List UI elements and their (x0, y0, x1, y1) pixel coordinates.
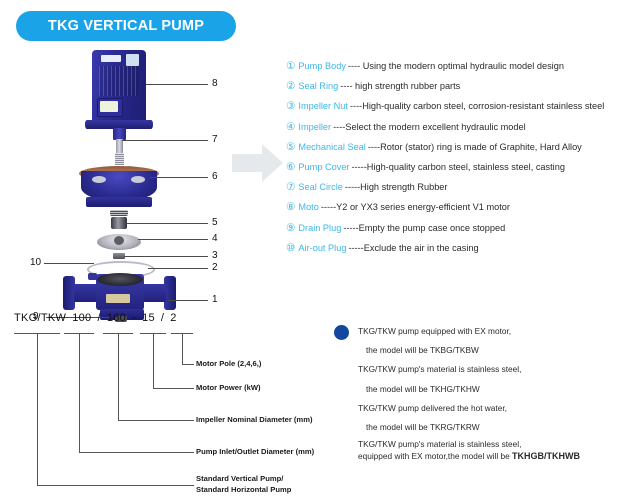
ex-note-line-4: the model will be TKHG/TKHW (358, 380, 617, 399)
code-segment-inlet: 100 (72, 312, 91, 324)
callout-number-6: 6 (212, 172, 218, 182)
callout-number-10: 10 (30, 258, 41, 268)
exploded-pump-diagram: 8 7 6 5 4 3 2 1 10 9 (0, 42, 240, 297)
code-label-motor-pole: Motor Pole (2,4,6,) (196, 359, 261, 369)
legend-item-3: ③ Impeller Nut ----High-quality carbon s… (286, 100, 617, 120)
legend-marker-icon-7: ⑦ (286, 181, 295, 193)
mechanical-seal-spring-part (110, 210, 128, 216)
legend-item-10: ⑩ Air-out Plug -----Exclude the air in t… (286, 242, 617, 262)
code-vline-pole (182, 333, 183, 364)
pump-cover-base-part (86, 197, 152, 207)
legend-marker-icon-1: ① (286, 60, 295, 72)
legend-marker-icon-6: ⑥ (286, 161, 295, 173)
ex-note-line-3: TKG/TKW pump's material is stainless ste… (358, 360, 617, 379)
legend-item-4: ④ Impeller ----Select the modern excelle… (286, 121, 617, 141)
code-segment-pole: 2 (170, 312, 176, 324)
pump-body-bore-part (97, 273, 143, 286)
legend-marker-icon-9: ⑨ (286, 222, 295, 234)
leader-line-5 (126, 223, 208, 224)
code-vline-power (153, 333, 154, 388)
page-title-banner: TKG VERTICAL PUMP (16, 11, 236, 41)
code-segment-series: TKG/TKW (14, 312, 66, 324)
parts-legend-list: ① Pump Body ---- Using the modern optima… (286, 60, 617, 262)
code-segment-power: 15 (142, 312, 155, 324)
legend-item-1: ① Pump Body ---- Using the modern optima… (286, 60, 617, 80)
motor-nameplate-side (126, 54, 139, 66)
motor-terminal-label (100, 101, 118, 112)
bullet-point-icon (334, 325, 349, 340)
callout-number-3: 3 (212, 251, 218, 261)
legend-description-8: -----Y2 or YX3 series energy-efficient V… (321, 202, 510, 212)
ex-note-line-2: the model will be TKBG/TKBW (358, 341, 617, 360)
page-title: TKG VERTICAL PUMP (48, 18, 204, 34)
legend-description-10: -----Exclude the air in the casing (348, 243, 478, 253)
pump-inlet-neck-part (74, 284, 98, 302)
legend-item-9: ⑨ Drain Plug -----Empty the pump case on… (286, 222, 617, 242)
legend-marker-icon-4: ④ (286, 121, 295, 133)
legend-part-name-9: Drain Plug (298, 223, 341, 233)
ex-note-line-5: TKG/TKW pump delivered the hot water, (358, 399, 617, 418)
legend-description-4: ----Select the modern excellent hydrauli… (333, 122, 526, 132)
legend-marker-icon-8: ⑧ (286, 201, 295, 213)
code-label-standard-horizontal: Standard Horizontal Pump (196, 485, 291, 496)
legend-item-2: ② Seal Ring ---- high strength rubber pa… (286, 80, 617, 100)
code-label-standard-vertical: Standard Vertical Pump/ (196, 474, 283, 485)
code-separator-3: / (161, 312, 164, 324)
legend-description-2: ---- high strength rubber parts (340, 81, 460, 91)
legend-part-name-10: Air-out Plug (298, 243, 346, 253)
shaft-thread-part (115, 153, 124, 165)
air-out-plug-part (88, 273, 97, 280)
callout-number-8: 8 (212, 79, 218, 89)
motor-nameplate-top (101, 55, 121, 62)
leader-line-10 (44, 263, 94, 264)
leader-line-7 (122, 140, 208, 141)
code-hline-impeller (118, 420, 194, 421)
callout-number-7: 7 (212, 135, 218, 145)
legend-item-8: ⑧ Moto -----Y2 or YX3 series energy-effi… (286, 201, 617, 221)
ex-motor-notes-lines: TKG/TKW pump equipped with EX motor, the… (358, 322, 617, 463)
model-code-string: TKG/TKW 100 / 160 - 15 / 2 (14, 312, 183, 324)
code-vline-series (37, 333, 38, 485)
mechanical-seal-part (111, 217, 127, 229)
code-hline-pole (182, 364, 194, 365)
code-label-motor-power: Motor Power (kW) (196, 383, 261, 393)
legend-description-3: ----High-quality carbon steel, corrosion… (350, 101, 604, 111)
impeller-hub-part (114, 236, 124, 245)
legend-item-5: ⑤ Mechanical Seal ----Rotor (stator) rin… (286, 141, 617, 161)
leader-line-1 (168, 300, 208, 301)
pump-body-nameplate (106, 294, 130, 303)
pump-cover-window-right (131, 176, 145, 183)
ex-note-line-7: TKG/TKW pump's material is stainless ste… (358, 437, 617, 450)
legend-marker-icon-3: ③ (286, 100, 295, 112)
legend-marker-icon-2: ② (286, 80, 295, 92)
code-hline-series (37, 485, 194, 486)
ex-note-line-8-text: equipped with EX motor,the model will be (358, 451, 512, 461)
legend-description-6: -----High-quality carbon steel, stainles… (351, 162, 564, 172)
motor-cooling-fins (99, 66, 139, 96)
callout-number-5: 5 (212, 218, 218, 228)
legend-part-name-8: Moto (298, 202, 318, 212)
leader-line-8 (146, 84, 208, 85)
leader-line-6 (150, 177, 208, 178)
code-vline-impeller (118, 333, 119, 420)
legend-part-name-5: Mechanical Seal (298, 142, 365, 152)
code-separator-1: / (97, 312, 100, 324)
code-separator-2: - (132, 312, 136, 324)
legend-part-name-6: Pump Cover (298, 162, 349, 172)
ex-note-line-6: the model will be TKRG/TKRW (358, 418, 617, 437)
right-arrow-icon (232, 141, 284, 185)
legend-part-name-7: Seal Circle (298, 182, 342, 192)
model-code-breakdown: TKG/TKW 100 / 160 - 15 / 2 Motor Pole (2… (0, 312, 330, 500)
code-hline-power (153, 388, 194, 389)
leader-line-2 (148, 268, 208, 269)
legend-marker-icon-10: ⑩ (286, 242, 295, 254)
legend-part-name-4: Impeller (298, 122, 331, 132)
ex-note-line-1: TKG/TKW pump equipped with EX motor, (358, 322, 617, 341)
code-label-impeller-dia: Impeller Nominal Diameter (mm) (196, 415, 312, 425)
code-label-inlet-outlet: Pump Inlet/Outlet Diameter (mm) (196, 447, 314, 457)
ex-note-line-8: equipped with EX motor,the model will be… (358, 450, 617, 463)
code-hline-inlet (79, 452, 194, 453)
legend-description-9: -----Empty the pump case once stopped (343, 223, 505, 233)
legend-marker-icon-5: ⑤ (286, 141, 295, 153)
leader-line-4 (138, 239, 208, 240)
code-vline-inlet (79, 333, 80, 452)
legend-part-name-2: Seal Ring (298, 81, 338, 91)
legend-item-7: ⑦ Seal Circle -----High strength Rubber (286, 181, 617, 201)
callout-number-1: 1 (212, 295, 218, 305)
code-segment-impeller: 160 (107, 312, 126, 324)
callout-number-2: 2 (212, 263, 218, 273)
legend-description-5: ----Rotor (stator) ring is made of Graph… (368, 142, 582, 152)
legend-description-7: -----High strength Rubber (345, 182, 448, 192)
legend-part-name-1: Pump Body (298, 61, 346, 71)
ex-note-line-8-model: TKHGB/TKHWB (512, 451, 580, 461)
pump-cover-window-left (92, 176, 106, 183)
legend-part-name-3: Impeller Nut (298, 101, 348, 111)
callout-number-4: 4 (212, 234, 218, 244)
legend-item-6: ⑥ Pump Cover -----High-quality carbon st… (286, 161, 617, 181)
pump-outlet-neck-part (142, 284, 166, 302)
legend-description-1: ---- Using the modern optimal hydraulic … (348, 61, 564, 71)
leader-line-3 (124, 256, 208, 257)
